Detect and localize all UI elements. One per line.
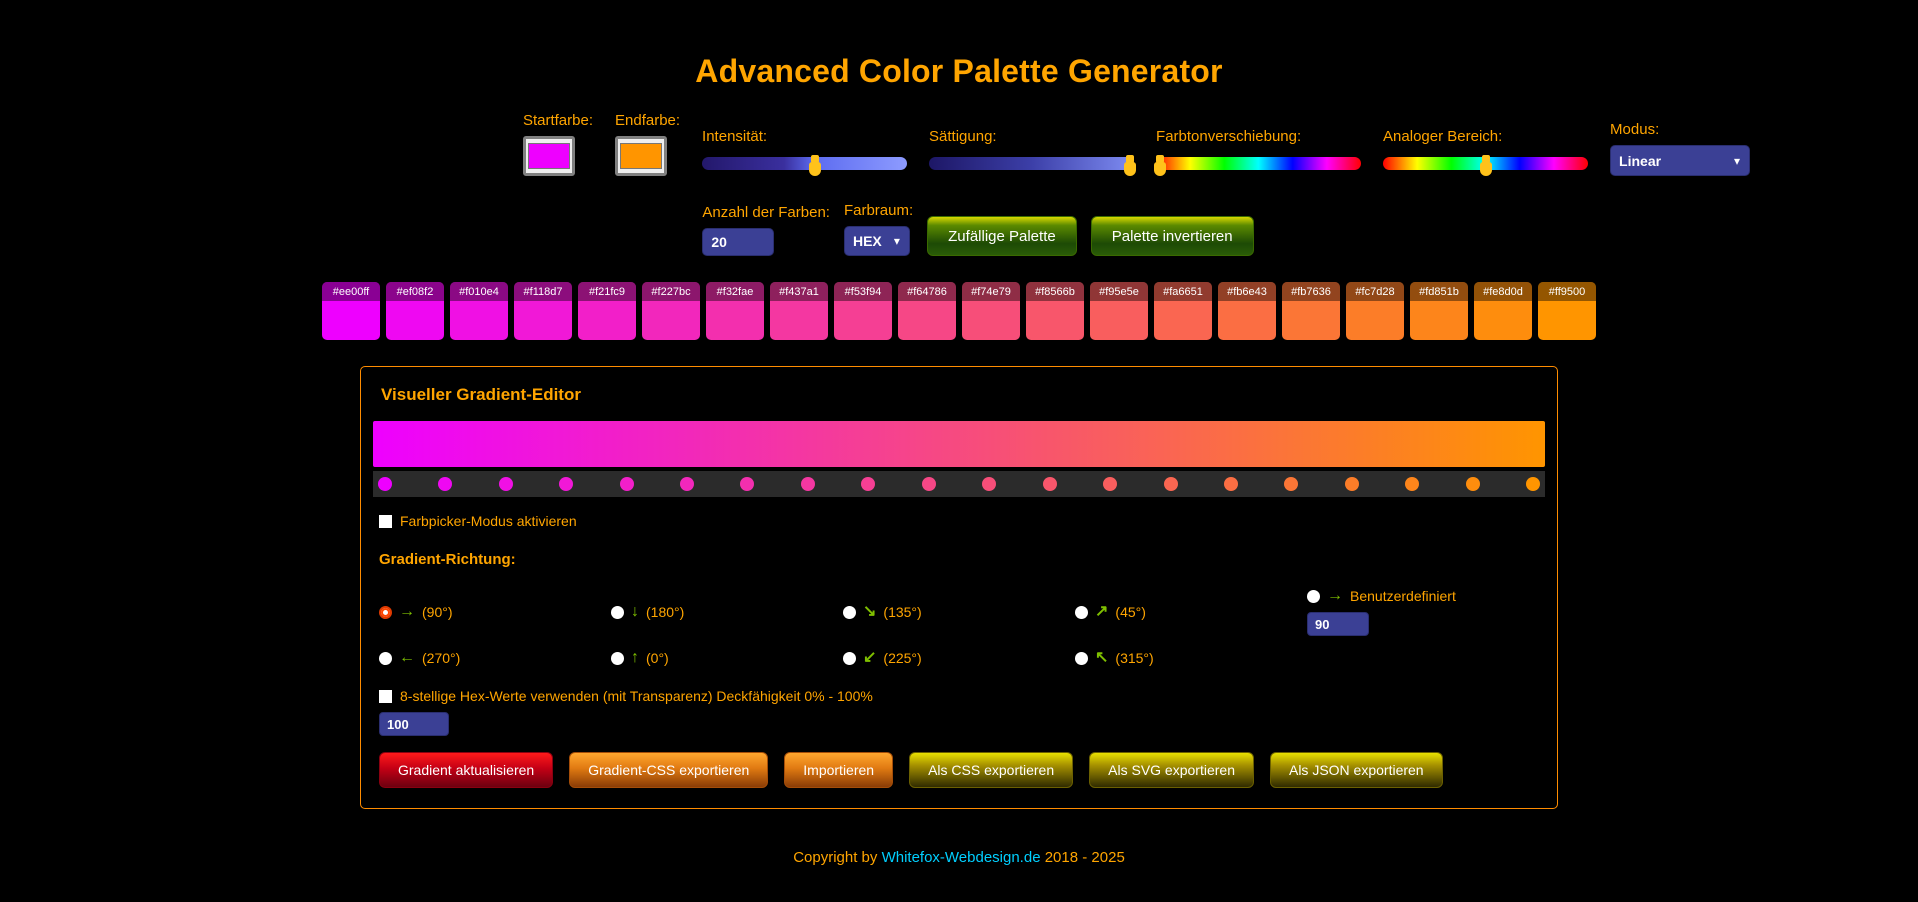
saturation-slider-thumb[interactable] xyxy=(1124,162,1136,176)
palette-swatch[interactable]: #fe8d0d xyxy=(1474,282,1532,340)
direction-radio[interactable] xyxy=(379,606,392,619)
direction-option[interactable]: ↖(315°) xyxy=(1075,650,1307,666)
gradient-editor-panel: Visueller Gradient-Editor Farbpicker-Mod… xyxy=(360,366,1558,809)
saturation-slider[interactable] xyxy=(929,152,1134,176)
mode-select-wrapper: Linear ▾ xyxy=(1610,145,1750,176)
gradient-stop-handle[interactable] xyxy=(922,477,936,491)
direction-option[interactable]: ↙(225°) xyxy=(843,650,1075,666)
random-palette-button[interactable]: Zufällige Palette xyxy=(927,216,1077,256)
opacity-input[interactable] xyxy=(379,712,449,736)
gradient-stop-handle[interactable] xyxy=(801,477,815,491)
gradient-stop-handle[interactable] xyxy=(1284,477,1298,491)
palette-swatch[interactable]: #f227bc xyxy=(642,282,700,340)
palette-swatch[interactable]: #ee00ff xyxy=(322,282,380,340)
palette-swatch-hex: #ef08f2 xyxy=(386,282,444,301)
arrow-right-icon: → xyxy=(399,604,415,620)
gradient-direction-label: Gradient-Richtung: xyxy=(379,551,1547,568)
custom-angle-control: →Benutzerdefiniert xyxy=(1307,588,1547,636)
direction-label: (225°) xyxy=(883,650,921,666)
export-json-button[interactable]: Als JSON exportieren xyxy=(1270,752,1443,788)
palette-swatch[interactable]: #ff9500 xyxy=(1538,282,1596,340)
start-color-swatch[interactable] xyxy=(523,136,575,176)
palette-swatch-hex: #f227bc xyxy=(642,282,700,301)
palette-swatch[interactable]: #f74e79 xyxy=(962,282,1020,340)
palette-swatch-hex: #f21fc9 xyxy=(578,282,636,301)
arrow-up-icon: ↑ xyxy=(631,650,639,666)
hue-shift-slider-thumb[interactable] xyxy=(1154,162,1166,176)
export-svg-button[interactable]: Als SVG exportieren xyxy=(1089,752,1254,788)
arrow-up-right-icon: ↗ xyxy=(1095,604,1108,620)
palette-swatch-hex: #ff9500 xyxy=(1538,282,1596,301)
gradient-stop-handle[interactable] xyxy=(1466,477,1480,491)
gradient-stop-handle[interactable] xyxy=(1224,477,1238,491)
color-count-control: Anzahl der Farben: xyxy=(702,204,830,256)
palette-swatch-hex: #f437a1 xyxy=(770,282,828,301)
mode-label: Modus: xyxy=(1610,121,1659,138)
direction-label: (180°) xyxy=(646,604,684,620)
intensity-slider-thumb[interactable] xyxy=(809,162,821,176)
saturation-slider-track xyxy=(929,157,1134,170)
direction-label: (0°) xyxy=(646,650,669,666)
intensity-control: Intensität: xyxy=(702,128,907,176)
footer: Copyright by Whitefox-Webdesign.de 2018 … xyxy=(0,849,1918,866)
direction-radio[interactable] xyxy=(1307,590,1320,603)
arrow-down-left-icon: ↙ xyxy=(863,650,876,666)
palette-swatch-hex: #fe8d0d xyxy=(1474,282,1532,301)
end-color-control: Endfarbe: xyxy=(615,112,680,176)
palette-swatch-hex: #f95e5e xyxy=(1090,282,1148,301)
direction-option[interactable]: ←(270°) xyxy=(379,650,611,666)
palette-swatch-hex: #f8566b xyxy=(1026,282,1084,301)
colorspace-control: Farbraum: HEX ▾ xyxy=(844,202,913,256)
hex8-checkbox[interactable] xyxy=(379,690,392,703)
start-color-control: Startfarbe: xyxy=(523,112,593,176)
palette-swatch-hex: #f74e79 xyxy=(962,282,1020,301)
end-color-label: Endfarbe: xyxy=(615,112,680,129)
export-css-button[interactable]: Als CSS exportieren xyxy=(909,752,1073,788)
gradient-stop-handle[interactable] xyxy=(1405,477,1419,491)
direction-radio[interactable] xyxy=(611,652,624,665)
gradient-stop-handle[interactable] xyxy=(438,477,452,491)
gradient-stop-handle[interactable] xyxy=(861,477,875,491)
gradient-stop-handle[interactable] xyxy=(1345,477,1359,491)
palette-swatch-hex: #f010e4 xyxy=(450,282,508,301)
colorspace-label: Farbraum: xyxy=(844,202,913,219)
gradient-stops-bar[interactable] xyxy=(373,471,1545,497)
saturation-control: Sättigung: xyxy=(929,128,1134,176)
colorspace-select-wrapper: HEX ▾ xyxy=(844,226,910,256)
end-color-swatch[interactable] xyxy=(615,136,667,176)
direction-radio[interactable] xyxy=(843,652,856,665)
intensity-label: Intensität: xyxy=(702,128,767,145)
start-color-label: Startfarbe: xyxy=(523,112,593,129)
direction-radio[interactable] xyxy=(379,652,392,665)
direction-option[interactable]: ↓(180°) xyxy=(611,588,843,636)
palette-swatch[interactable]: #f32fae xyxy=(706,282,764,340)
direction-label: (315°) xyxy=(1115,650,1153,666)
direction-radio[interactable] xyxy=(843,606,856,619)
picker-mode-checkbox[interactable] xyxy=(379,515,392,528)
footer-suffix: 2018 - 2025 xyxy=(1041,849,1125,866)
page-title: Advanced Color Palette Generator xyxy=(0,21,1918,90)
saturation-label: Sättigung: xyxy=(929,128,997,145)
footer-prefix: Copyright by xyxy=(793,849,881,866)
palette-options-row: Anzahl der Farben: Farbraum: HEX ▾ Zufäl… xyxy=(0,202,1918,256)
direction-label: Benutzerdefiniert xyxy=(1350,588,1456,604)
direction-radio[interactable] xyxy=(1075,652,1088,665)
gradient-stop-handle[interactable] xyxy=(1526,477,1540,491)
gradient-preview-bar[interactable] xyxy=(373,421,1545,467)
arrow-up-left-icon: ↖ xyxy=(1095,650,1108,666)
gradient-stop-handle[interactable] xyxy=(499,477,513,491)
custom-angle-input[interactable] xyxy=(1307,612,1369,636)
gradient-stop-handle[interactable] xyxy=(680,477,694,491)
intensity-slider[interactable] xyxy=(702,152,907,176)
direction-label: (45°) xyxy=(1115,604,1146,620)
gradient-editor-title: Visueller Gradient-Editor xyxy=(381,385,1547,405)
arrow-right-icon: → xyxy=(1327,588,1343,604)
analog-range-slider[interactable] xyxy=(1383,152,1588,176)
palette-swatch[interactable]: #ef08f2 xyxy=(386,282,444,340)
palette-swatch[interactable]: #f8566b xyxy=(1026,282,1084,340)
palette-swatch-hex: #f32fae xyxy=(706,282,764,301)
palette-swatch-hex: #fa6651 xyxy=(1154,282,1212,301)
direction-label: (270°) xyxy=(422,650,460,666)
direction-radio[interactable] xyxy=(1075,606,1088,619)
palette-swatch[interactable]: #fb7636 xyxy=(1282,282,1340,340)
intensity-slider-track xyxy=(702,157,907,170)
hue-shift-control: Farbtonverschiebung: xyxy=(1156,128,1361,176)
direction-option[interactable]: →Benutzerdefiniert xyxy=(1307,588,1547,604)
direction-option[interactable]: →(90°) xyxy=(379,588,611,636)
color-count-label: Anzahl der Farben: xyxy=(702,204,830,221)
direction-label: (135°) xyxy=(883,604,921,620)
direction-label: (90°) xyxy=(422,604,453,620)
mode-select[interactable]: Linear xyxy=(1610,145,1750,176)
picker-mode-label: Farbpicker-Modus aktivieren xyxy=(400,513,577,529)
arrow-down-icon: ↓ xyxy=(631,604,639,620)
palette-swatch[interactable]: #f437a1 xyxy=(770,282,828,340)
palette-swatch[interactable]: #f21fc9 xyxy=(578,282,636,340)
gradient-action-buttons: Gradient aktualisieren Gradient-CSS expo… xyxy=(379,752,1547,788)
palette-swatch-hex: #fc7d28 xyxy=(1346,282,1404,301)
hue-shift-slider[interactable] xyxy=(1156,152,1361,176)
gradient-stop-handle[interactable] xyxy=(982,477,996,491)
gradient-stop-handle[interactable] xyxy=(1164,477,1178,491)
palette-swatch-list: #ee00ff#ef08f2#f010e4#f118d7#f21fc9#f227… xyxy=(0,282,1918,340)
colorspace-select[interactable]: HEX xyxy=(844,226,910,256)
gradient-stop-handle[interactable] xyxy=(559,477,573,491)
hex8-row: 8-stellige Hex-Werte verwenden (mit Tran… xyxy=(379,688,1547,704)
analog-range-label: Analoger Bereich: xyxy=(1383,128,1502,145)
palette-swatch[interactable]: #fc7d28 xyxy=(1346,282,1404,340)
footer-link[interactable]: Whitefox-Webdesign.de xyxy=(882,849,1041,866)
arrow-left-icon: ← xyxy=(399,650,415,666)
palette-swatch-hex: #f64786 xyxy=(898,282,956,301)
gradient-direction-options: →(90°)↓(180°)↘(135°)↗(45°)→Benutzerdefin… xyxy=(379,588,1547,666)
direction-option[interactable]: ↑(0°) xyxy=(611,650,843,666)
palette-swatch-hex: #ee00ff xyxy=(322,282,380,301)
hue-shift-slider-track xyxy=(1156,157,1361,170)
update-gradient-button[interactable]: Gradient aktualisieren xyxy=(379,752,553,788)
gradient-stop-handle[interactable] xyxy=(740,477,754,491)
palette-swatch-hex: #fd851b xyxy=(1410,282,1468,301)
app-root: Advanced Color Palette Generator Startfa… xyxy=(0,21,1918,902)
palette-swatch-hex: #fb6e43 xyxy=(1218,282,1276,301)
palette-swatch[interactable]: #f53f94 xyxy=(834,282,892,340)
palette-swatch[interactable]: #fd851b xyxy=(1410,282,1468,340)
export-gradient-css-button[interactable]: Gradient-CSS exportieren xyxy=(569,752,768,788)
top-controls-row: Startfarbe: Endfarbe: Intensität: Sättig… xyxy=(0,112,1918,176)
palette-swatch[interactable]: #fb6e43 xyxy=(1218,282,1276,340)
mode-control: Modus: Linear ▾ xyxy=(1610,121,1750,176)
palette-swatch[interactable]: #f95e5e xyxy=(1090,282,1148,340)
direction-radio[interactable] xyxy=(611,606,624,619)
palette-swatch[interactable]: #fa6651 xyxy=(1154,282,1212,340)
color-count-input[interactable] xyxy=(702,228,774,256)
palette-swatch[interactable]: #f118d7 xyxy=(514,282,572,340)
palette-swatch-hex: #f53f94 xyxy=(834,282,892,301)
hue-shift-label: Farbtonverschiebung: xyxy=(1156,128,1301,145)
palette-swatch-hex: #f118d7 xyxy=(514,282,572,301)
gradient-stop-handle[interactable] xyxy=(378,477,392,491)
gradient-stop-handle[interactable] xyxy=(620,477,634,491)
palette-swatch[interactable]: #f010e4 xyxy=(450,282,508,340)
hex8-label: 8-stellige Hex-Werte verwenden (mit Tran… xyxy=(400,688,873,704)
direction-option[interactable]: ↘(135°) xyxy=(843,588,1075,636)
gradient-stop-handle[interactable] xyxy=(1043,477,1057,491)
gradient-stop-handle[interactable] xyxy=(1103,477,1117,491)
analog-range-control: Analoger Bereich: xyxy=(1383,128,1588,176)
arrow-down-right-icon: ↘ xyxy=(863,604,876,620)
import-button[interactable]: Importieren xyxy=(784,752,893,788)
analog-range-slider-thumb[interactable] xyxy=(1480,162,1492,176)
picker-mode-row: Farbpicker-Modus aktivieren xyxy=(379,513,1547,529)
invert-palette-button[interactable]: Palette invertieren xyxy=(1091,216,1254,256)
direction-option[interactable]: ↗(45°) xyxy=(1075,588,1307,636)
palette-swatch[interactable]: #f64786 xyxy=(898,282,956,340)
palette-swatch-hex: #fb7636 xyxy=(1282,282,1340,301)
